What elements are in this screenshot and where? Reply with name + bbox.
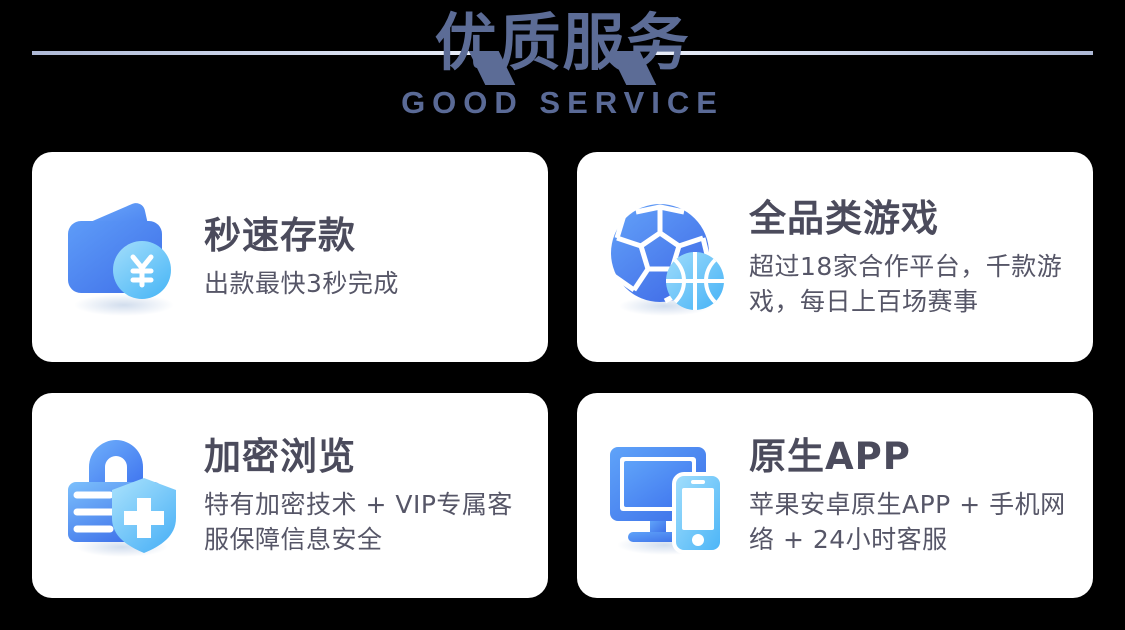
feature-card-encrypted-browsing[interactable]: 加密浏览 特有加密技术 + VIP专属客服保障信息安全 <box>32 393 548 598</box>
card-description: 苹果安卓原生APP + 手机网络 + 24小时客服 <box>749 487 1071 557</box>
card-text-block: 秒速存款 出款最快3秒完成 <box>204 213 526 301</box>
card-text-block: 全品类游戏 超过18家合作平台，千款游戏，每日上百场赛事 <box>749 196 1071 319</box>
wallet-icon <box>58 193 190 321</box>
page-subtitle: GOOD SERVICE <box>0 84 1125 122</box>
card-description: 出款最快3秒完成 <box>204 266 526 301</box>
card-title: 全品类游戏 <box>749 196 1071 242</box>
card-title: 秒速存款 <box>204 213 526 259</box>
card-title: 加密浏览 <box>204 434 526 480</box>
page-title: 优质服务 <box>0 0 1125 86</box>
card-text-block: 原生APP 苹果安卓原生APP + 手机网络 + 24小时客服 <box>749 434 1071 557</box>
service-feature-banner: 优质服务 GOOD SERVICE <box>0 0 1125 630</box>
header-title-block: 优质服务 GOOD SERVICE <box>0 0 1125 122</box>
monitor-phone-icon <box>603 432 735 560</box>
feature-card-fast-deposit[interactable]: 秒速存款 出款最快3秒完成 <box>32 152 548 362</box>
feature-card-all-games[interactable]: 全品类游戏 超过18家合作平台，千款游戏，每日上百场赛事 <box>577 152 1093 362</box>
banner-header: 优质服务 GOOD SERVICE <box>0 0 1125 142</box>
card-description: 超过18家合作平台，千款游戏，每日上百场赛事 <box>749 249 1071 319</box>
soccer-basketball-icon <box>603 193 735 321</box>
lock-shield-icon <box>58 432 190 560</box>
card-title: 原生APP <box>749 434 1071 480</box>
card-text-block: 加密浏览 特有加密技术 + VIP专属客服保障信息安全 <box>204 434 526 557</box>
card-description: 特有加密技术 + VIP专属客服保障信息安全 <box>204 487 526 557</box>
feature-card-grid: 秒速存款 出款最快3秒完成 <box>32 152 1093 598</box>
feature-card-native-app[interactable]: 原生APP 苹果安卓原生APP + 手机网络 + 24小时客服 <box>577 393 1093 598</box>
